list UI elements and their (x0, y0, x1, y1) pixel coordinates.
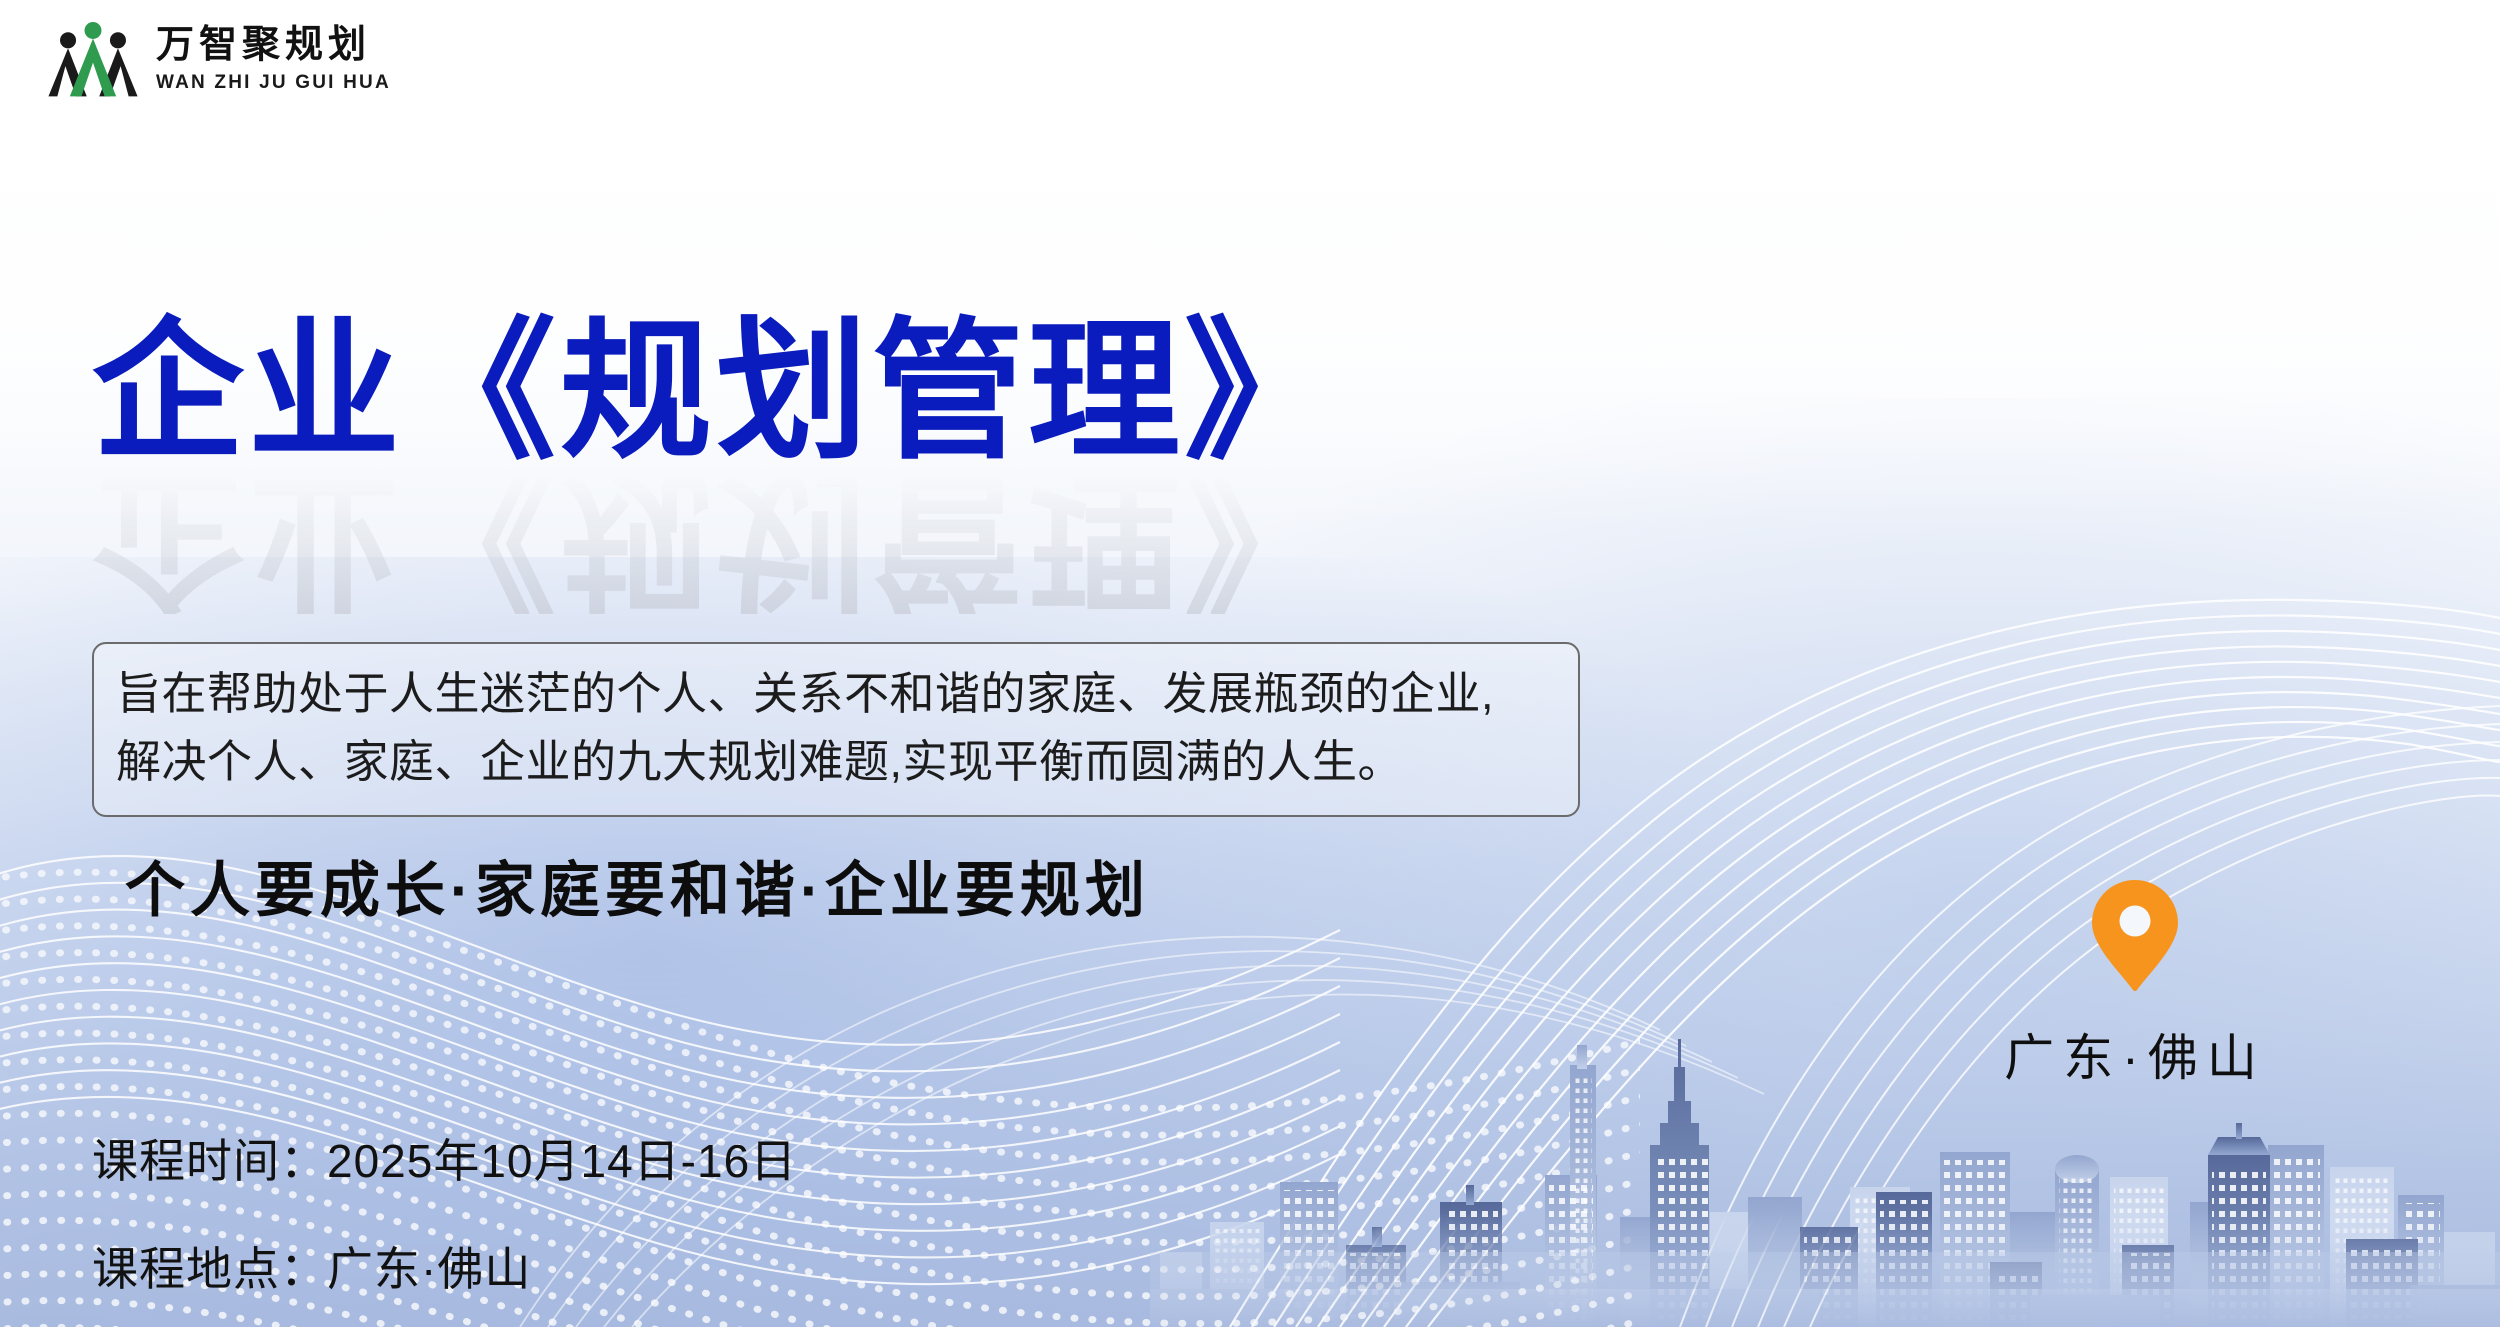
brand-name-cn: 万智聚规划 (156, 26, 391, 64)
three-people-m-logo-icon (48, 18, 138, 100)
map-pin-icon (2092, 880, 2178, 992)
hero-title-block: 企业《规划管理》 企业《规划管理》 (92, 316, 1340, 614)
page-title-reflection: 企业《规划管理》 (92, 462, 1340, 614)
course-info: 课程时间：2025年10月14日-16日 课程地点：广东·佛山 (92, 1125, 797, 1299)
tagline: 个人要成长·家庭要和谐·企业要规划 (125, 842, 1150, 929)
description-box: 旨在帮助处于人生迷茫的个人、关系不和谐的家庭、发展瓶颈的企业, 解决个人、家庭、… (92, 642, 1580, 817)
brand-logo-text: 万智聚规划 WAN ZHI JU GUI HUA (156, 26, 391, 92)
course-time: 课程时间：2025年10月14日-16日 (92, 1125, 797, 1191)
location-city: 广东·佛山 (1955, 1018, 2315, 1090)
brand-name-en: WAN ZHI JU GUI HUA (156, 73, 391, 92)
course-place: 课程地点：广东·佛山 (92, 1233, 797, 1299)
brand-logo[interactable]: 万智聚规划 WAN ZHI JU GUI HUA (48, 18, 391, 100)
poster-canvas: 万智聚规划 WAN ZHI JU GUI HUA 企业《规划管理》 企业《规划管… (0, 0, 2500, 1327)
description-line-1: 旨在帮助处于人生迷茫的个人、关系不和谐的家庭、发展瓶颈的企业, (116, 660, 1556, 728)
description-line-2: 解决个人、家庭、企业的九大规划难题,实现平衡而圆满的人生。 (116, 728, 1556, 796)
page-title: 企业《规划管理》 (92, 316, 1340, 468)
location-badge: 广东·佛山 (1955, 880, 2315, 1090)
